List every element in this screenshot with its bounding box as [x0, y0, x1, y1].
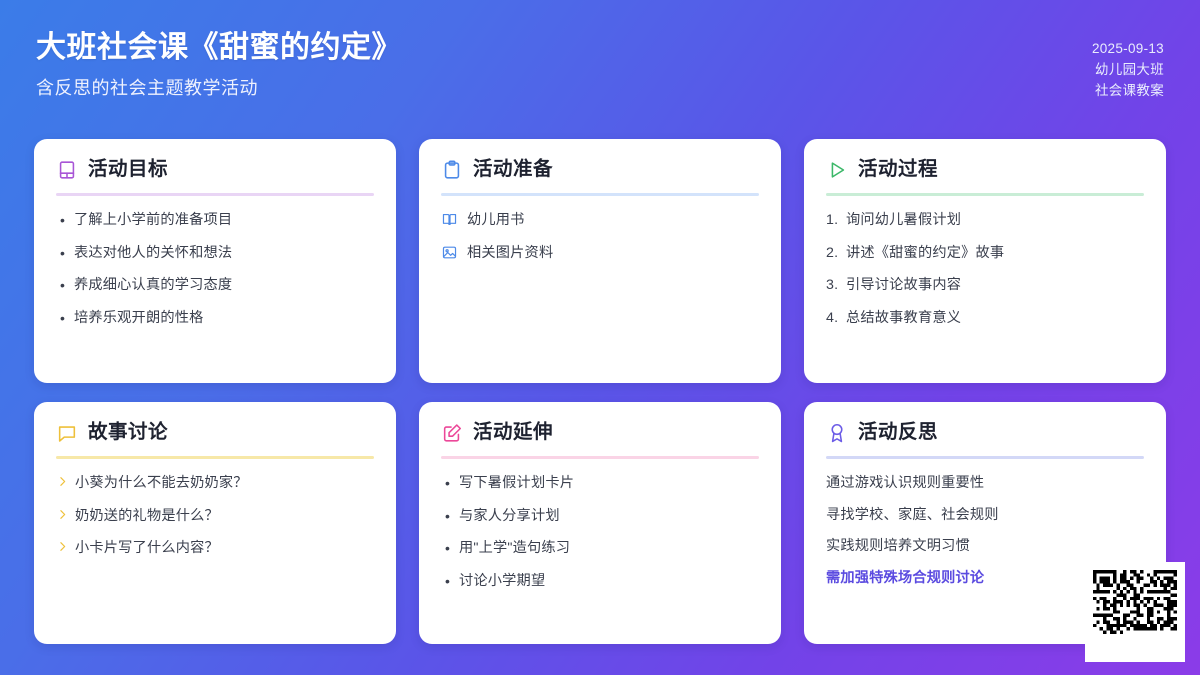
- list-item: •与家人分享计划: [441, 506, 759, 527]
- list-item: 小葵为什么不能去奶奶家？: [56, 473, 374, 494]
- list-item: •写下暑假计划卡片: [441, 473, 759, 494]
- list-item-label: 小卡片写了什么内容？: [75, 538, 374, 559]
- list-number: 2.: [826, 243, 846, 264]
- header-left: 大班社会课《甜蜜的约定》 含反思的社会主题教学活动: [36, 28, 402, 101]
- book-icon: [56, 159, 78, 181]
- list-item: •表达对他人的关怀和想法: [56, 243, 374, 264]
- list-item: 幼儿用书: [441, 210, 759, 231]
- list-number: 1.: [826, 210, 846, 231]
- list-item-label: 与家人分享计划: [459, 506, 759, 527]
- card-title-extension: 活动延伸: [473, 423, 553, 443]
- list-item-label: 奶奶送的礼物是什么？: [75, 506, 374, 527]
- card-list-extension: •写下暑假计划卡片•与家人分享计划•用"上学"造句练习•讨论小学期望: [441, 473, 759, 591]
- card-header-discussion: 故事讨论: [56, 422, 374, 456]
- list-item-label: 幼儿用书: [467, 210, 759, 231]
- edit-square-icon: [441, 422, 463, 444]
- play-triangle-icon: [826, 159, 848, 181]
- list-item-label: 表达对他人的关怀和想法: [74, 243, 374, 264]
- card-process: 活动过程1.询问幼儿暑假计划2.讲述《甜蜜的约定》故事3.引导讨论故事内容4.总…: [804, 139, 1166, 383]
- list-item-label: 实践规则培养文明习惯: [826, 536, 1144, 557]
- list-item: 1.询问幼儿暑假计划: [826, 210, 1144, 231]
- open-book-icon: [441, 210, 467, 228]
- meta-date: 2025-09-13: [1092, 38, 1164, 59]
- list-item: •培养乐观开朗的性格: [56, 308, 374, 329]
- card-preparation: 活动准备幼儿用书相关图片资料: [419, 139, 781, 383]
- bullet-icon: •: [441, 506, 459, 526]
- list-item-label: 了解上小学前的准备项目: [74, 210, 374, 231]
- list-number: 4.: [826, 308, 846, 329]
- list-item: 4.总结故事教育意义: [826, 308, 1144, 329]
- bullet-icon: •: [441, 538, 459, 558]
- list-item: •养成细心认真的学习态度: [56, 275, 374, 296]
- card-objectives: 活动目标•了解上小学前的准备项目•表达对他人的关怀和想法•养成细心认真的学习态度…: [34, 139, 396, 383]
- list-item-label: 寻找学校、家庭、社会规则: [826, 505, 1144, 526]
- card-header-preparation: 活动准备: [441, 159, 759, 193]
- list-item-label: 小葵为什么不能去奶奶家？: [75, 473, 374, 494]
- list-item-label: 用"上学"造句练习: [459, 538, 759, 559]
- header: 大班社会课《甜蜜的约定》 含反思的社会主题教学活动 2025-09-13 幼儿园…: [0, 0, 1200, 130]
- card-title-process: 活动过程: [858, 160, 938, 180]
- card-title-objectives: 活动目标: [88, 160, 168, 180]
- card-divider-process: [826, 193, 1144, 196]
- list-item: 实践规则培养文明习惯: [826, 536, 1144, 557]
- list-item-label: 讲述《甜蜜的约定》故事: [846, 243, 1144, 264]
- list-item: 2.讲述《甜蜜的约定》故事: [826, 243, 1144, 264]
- chevron-right-icon: [56, 473, 75, 488]
- list-item: 小卡片写了什么内容？: [56, 538, 374, 559]
- chevron-right-icon: [56, 506, 75, 521]
- list-item-label: 养成细心认真的学习态度: [74, 275, 374, 296]
- list-item-label: 培养乐观开朗的性格: [74, 308, 374, 329]
- card-divider-discussion: [56, 456, 374, 459]
- list-number: 3.: [826, 275, 846, 296]
- bullet-icon: •: [56, 308, 74, 328]
- list-item-label: 总结故事教育意义: [846, 308, 1144, 329]
- award-ribbon-icon: [826, 422, 848, 444]
- card-extension: 活动延伸•写下暑假计划卡片•与家人分享计划•用"上学"造句练习•讨论小学期望: [419, 402, 781, 644]
- chevron-right-icon: [56, 538, 75, 553]
- qr-code-icon: [1093, 570, 1177, 654]
- bullet-icon: •: [441, 571, 459, 591]
- card-title-reflection: 活动反思: [858, 423, 938, 443]
- list-item: 寻找学校、家庭、社会规则: [826, 505, 1144, 526]
- speech-bubble-icon: [56, 422, 78, 444]
- list-item: •了解上小学前的准备项目: [56, 210, 374, 231]
- list-item: 奶奶送的礼物是什么？: [56, 506, 374, 527]
- card-list-process: 1.询问幼儿暑假计划2.讲述《甜蜜的约定》故事3.引导讨论故事内容4.总结故事教…: [826, 210, 1144, 328]
- page-title: 大班社会课《甜蜜的约定》: [36, 28, 402, 67]
- card-header-extension: 活动延伸: [441, 422, 759, 456]
- list-item: 通过游戏认识规则重要性: [826, 473, 1144, 494]
- card-grid: 活动目标•了解上小学前的准备项目•表达对他人的关怀和想法•养成细心认真的学习态度…: [34, 139, 1166, 644]
- card-list-objectives: •了解上小学前的准备项目•表达对他人的关怀和想法•养成细心认真的学习态度•培养乐…: [56, 210, 374, 328]
- bullet-icon: •: [56, 210, 74, 230]
- slide-root: 大班社会课《甜蜜的约定》 含反思的社会主题教学活动 2025-09-13 幼儿园…: [0, 0, 1200, 675]
- card-title-preparation: 活动准备: [473, 160, 553, 180]
- meta-grade: 幼儿园大班: [1095, 59, 1164, 80]
- qr-code-container[interactable]: [1085, 562, 1185, 662]
- bullet-icon: •: [56, 243, 74, 263]
- card-divider-preparation: [441, 193, 759, 196]
- clipboard-icon: [441, 159, 463, 181]
- page-subtitle: 含反思的社会主题教学活动: [36, 76, 402, 101]
- list-item: •用"上学"造句练习: [441, 538, 759, 559]
- image-icon: [441, 243, 467, 261]
- list-item: 3.引导讨论故事内容: [826, 275, 1144, 296]
- card-divider-extension: [441, 456, 759, 459]
- card-discussion: 故事讨论小葵为什么不能去奶奶家？奶奶送的礼物是什么？小卡片写了什么内容？: [34, 402, 396, 644]
- bullet-icon: •: [441, 473, 459, 493]
- card-header-process: 活动过程: [826, 159, 1144, 193]
- list-item-label: 询问幼儿暑假计划: [846, 210, 1144, 231]
- meta-category: 社会课教案: [1095, 80, 1164, 101]
- list-item-label: 写下暑假计划卡片: [459, 473, 759, 494]
- card-divider-reflection: [826, 456, 1144, 459]
- card-list-discussion: 小葵为什么不能去奶奶家？奶奶送的礼物是什么？小卡片写了什么内容？: [56, 473, 374, 559]
- list-item-label: 相关图片资料: [467, 243, 759, 264]
- card-title-discussion: 故事讨论: [88, 423, 168, 443]
- card-divider-objectives: [56, 193, 374, 196]
- card-list-preparation: 幼儿用书相关图片资料: [441, 210, 759, 263]
- list-item-label: 引导讨论故事内容: [846, 275, 1144, 296]
- card-header-objectives: 活动目标: [56, 159, 374, 193]
- list-item-label: 通过游戏认识规则重要性: [826, 473, 1144, 494]
- bullet-icon: •: [56, 275, 74, 295]
- card-header-reflection: 活动反思: [826, 422, 1144, 456]
- list-item: •讨论小学期望: [441, 571, 759, 592]
- header-meta: 2025-09-13 幼儿园大班 社会课教案: [1092, 28, 1164, 101]
- list-item-label: 讨论小学期望: [459, 571, 759, 592]
- list-item: 相关图片资料: [441, 243, 759, 264]
